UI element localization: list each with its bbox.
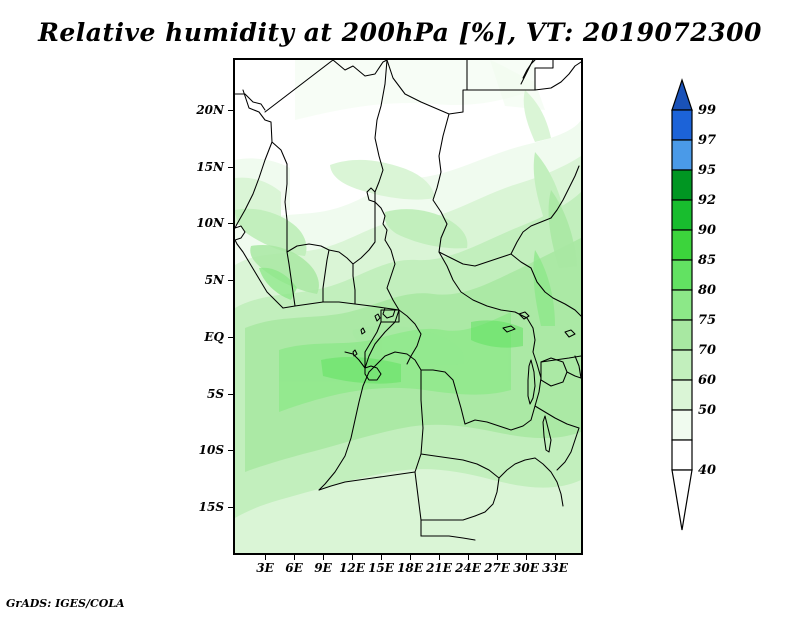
colorbar: 99 97 95 92 90 85 80 75 70 60 50 40 — [660, 70, 770, 540]
x-tick — [497, 555, 498, 560]
x-tick — [294, 555, 295, 560]
colorbar-label: 50 — [698, 403, 716, 418]
colorbar-band — [672, 350, 692, 380]
colorbar-band — [672, 110, 692, 140]
y-tick — [228, 167, 233, 168]
footer-credit: GrADS: IGES/COLA — [6, 597, 125, 610]
grads-plot-page: Relative humidity at 200hPa [%], VT: 201… — [0, 0, 800, 618]
x-tick — [439, 555, 440, 560]
x-tick — [410, 555, 411, 560]
colorbar-label: 92 — [698, 193, 716, 208]
y-axis-label: 10N — [178, 216, 224, 230]
y-axis-label: 5N — [178, 273, 224, 287]
colorbar-label: 99 — [698, 103, 716, 118]
colorbar-label: 75 — [698, 313, 716, 328]
colorbar-band — [672, 320, 692, 350]
colorbar-cap-top — [672, 80, 692, 110]
colorbar-label: 80 — [698, 283, 716, 298]
colorbar-label: 95 — [698, 163, 716, 178]
y-axis-label: 20N — [178, 103, 224, 117]
map-plot-area — [233, 58, 583, 555]
y-axis-label: 15S — [178, 500, 224, 514]
colorbar-band — [672, 290, 692, 320]
x-tick — [381, 555, 382, 560]
colorbar-label: 40 — [698, 463, 716, 478]
colorbar-cap-bottom — [672, 470, 692, 530]
x-axis-label: 33E — [535, 561, 575, 575]
colorbar-band — [672, 200, 692, 230]
y-tick — [228, 507, 233, 508]
x-tick — [526, 555, 527, 560]
y-axis-label: 5S — [178, 387, 224, 401]
y-axis-label: 15N — [178, 160, 224, 174]
y-axis-label: EQ — [178, 330, 224, 344]
page-title: Relative humidity at 200hPa [%], VT: 201… — [0, 18, 800, 47]
x-tick — [352, 555, 353, 560]
colorbar-label: 60 — [698, 373, 716, 388]
colorbar-band — [672, 230, 692, 260]
colorbar-label: 70 — [698, 343, 716, 358]
x-tick — [468, 555, 469, 560]
colorbar-label: 90 — [698, 223, 716, 238]
colorbar-band — [672, 410, 692, 440]
y-tick — [228, 223, 233, 224]
colorbar-band — [672, 260, 692, 290]
y-tick — [228, 280, 233, 281]
y-tick — [228, 394, 233, 395]
colorbar-band — [672, 440, 692, 470]
colorbar-label: 97 — [698, 133, 716, 148]
y-tick — [228, 337, 233, 338]
colorbar-band — [672, 140, 692, 170]
colorbar-band — [672, 170, 692, 200]
humidity-shading — [235, 60, 581, 553]
colorbar-label: 85 — [698, 253, 716, 268]
x-tick — [323, 555, 324, 560]
map-canvas — [235, 60, 581, 553]
colorbar-band — [672, 380, 692, 410]
y-tick — [228, 450, 233, 451]
x-tick — [555, 555, 556, 560]
x-tick — [265, 555, 266, 560]
y-axis-label: 10S — [178, 443, 224, 457]
y-tick — [228, 110, 233, 111]
